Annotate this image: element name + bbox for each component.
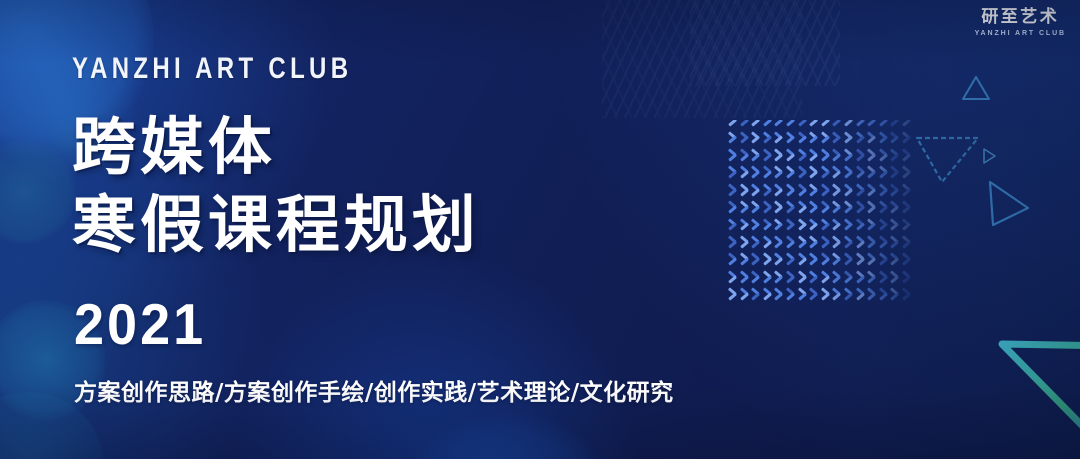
chevron-arrow-icon xyxy=(774,277,786,294)
chevron-arrow-icon xyxy=(879,155,891,172)
chevron-arrow-icon xyxy=(867,190,879,207)
triangle-outline-mid-icon xyxy=(914,132,982,188)
chevron-arrow-icon xyxy=(798,137,810,154)
chevron-arrow-icon xyxy=(902,259,912,276)
chevron-arrow-icon xyxy=(844,190,856,207)
chevron-arrow-icon xyxy=(902,277,912,294)
chevron-arrow-icon xyxy=(821,172,833,189)
chevron-arrow-icon xyxy=(856,137,868,154)
chevron-arrow-icon xyxy=(879,172,891,189)
chevron-arrow-icon xyxy=(856,172,868,189)
chevron-arrow-icon xyxy=(867,137,879,154)
bokeh-circle-mid-left xyxy=(0,140,76,244)
content-column: YANZHI ART CLUB 跨媒体 寒假课程规划 2021 方案创作思路/方… xyxy=(72,0,772,459)
page-title: 跨媒体 寒假课程规划 xyxy=(72,108,712,264)
brand-name-cn: 研至艺术 xyxy=(975,8,1066,27)
chevron-arrow-icon xyxy=(809,172,821,189)
chevron-arrow-icon xyxy=(902,224,912,241)
chevron-arrow-icon xyxy=(809,259,821,276)
chevron-arrow-icon xyxy=(821,120,833,137)
chevron-arrow-icon xyxy=(809,242,821,259)
chevron-arrow-icon xyxy=(890,259,902,276)
chevron-arrow-icon xyxy=(844,172,856,189)
chevron-arrow-icon xyxy=(832,172,844,189)
chevron-arrow-icon xyxy=(774,294,786,302)
chevron-arrow-icon xyxy=(856,259,868,276)
chevron-arrow-icon xyxy=(902,207,912,224)
chevron-arrow-icon xyxy=(902,137,912,154)
chevron-arrow-icon xyxy=(821,155,833,172)
chevron-arrow-icon xyxy=(786,294,798,302)
chevron-arrow-icon xyxy=(786,137,798,154)
chevron-arrow-icon xyxy=(786,190,798,207)
year-label: 2021 xyxy=(74,294,206,355)
chevron-arrow-icon xyxy=(774,259,786,276)
triangle-outline-low-icon xyxy=(983,178,1033,230)
chevron-arrow-icon xyxy=(798,277,810,294)
chevron-arrow-icon xyxy=(786,207,798,224)
chevron-arrow-icon xyxy=(844,224,856,241)
chevron-arrow-icon xyxy=(832,190,844,207)
chevron-arrow-icon xyxy=(867,172,879,189)
chevron-arrow-icon xyxy=(809,224,821,241)
chevron-arrow-icon xyxy=(798,224,810,241)
chevron-arrow-icon xyxy=(844,259,856,276)
chevron-arrow-icon xyxy=(809,190,821,207)
chevron-arrow-icon xyxy=(902,172,912,189)
chevron-arrow-icon xyxy=(867,155,879,172)
chevron-arrow-icon xyxy=(890,277,902,294)
chevron-arrow-icon xyxy=(786,155,798,172)
chevron-arrow-icon xyxy=(867,242,879,259)
subtitle-courses: 方案创作思路/方案创作手绘/创作实践/艺术理论/文化研究 xyxy=(74,378,674,408)
chevron-arrow-icon xyxy=(890,242,902,259)
chevron-arrow-icon xyxy=(844,155,856,172)
chevron-arrow-icon xyxy=(821,190,833,207)
chevron-arrow-icon xyxy=(879,242,891,259)
chevron-arrow-icon xyxy=(821,259,833,276)
chevron-arrow-icon xyxy=(832,224,844,241)
chevron-arrow-icon xyxy=(902,120,912,137)
chevron-arrow-icon xyxy=(798,259,810,276)
chevron-arrow-icon xyxy=(798,155,810,172)
chevron-arrow-icon xyxy=(774,224,786,241)
chevron-arrow-icon xyxy=(856,224,868,241)
brand-name-en: YANZHI ART CLUB xyxy=(975,29,1066,38)
chevron-arrow-icon xyxy=(798,207,810,224)
chevron-arrow-icon xyxy=(832,277,844,294)
chevron-arrow-icon xyxy=(879,294,891,302)
triangle-large-corner-icon xyxy=(996,330,1080,459)
chevron-arrow-icon xyxy=(821,224,833,241)
chevron-arrow-icon xyxy=(832,137,844,154)
chevron-arrow-icon xyxy=(890,190,902,207)
chevron-arrow-icon xyxy=(809,294,821,302)
chevron-arrow-icon xyxy=(902,242,912,259)
chevron-arrow-icon xyxy=(879,137,891,154)
chevron-arrow-icon xyxy=(844,207,856,224)
chevron-arrow-icon xyxy=(832,259,844,276)
chevron-arrow-icon xyxy=(798,294,810,302)
chevron-arrow-icon xyxy=(844,242,856,259)
chevron-arrow-icon xyxy=(774,190,786,207)
chevron-arrow-icon xyxy=(832,294,844,302)
chevron-arrow-icon xyxy=(856,277,868,294)
chevron-arrow-icon xyxy=(879,190,891,207)
eyebrow-label: YANZHI ART CLUB xyxy=(72,52,352,86)
chevron-arrow-icon xyxy=(786,242,798,259)
chevron-arrow-icon xyxy=(890,172,902,189)
chevron-arrow-icon xyxy=(821,242,833,259)
chevron-arrow-icon xyxy=(821,137,833,154)
chevron-arrow-icon xyxy=(902,155,912,172)
chevron-arrow-icon xyxy=(844,120,856,137)
chevron-arrow-icon xyxy=(786,277,798,294)
chevron-arrow-icon xyxy=(821,277,833,294)
chevron-arrow-icon xyxy=(902,294,912,302)
chevron-arrow-icon xyxy=(867,294,879,302)
chevron-arrow-icon xyxy=(879,259,891,276)
banner-root: YANZHI ART CLUB 跨媒体 寒假课程规划 2021 方案创作思路/方… xyxy=(0,0,1080,459)
chevron-arrow-icon xyxy=(774,172,786,189)
chevron-arrow-icon xyxy=(786,172,798,189)
chevron-arrow-icon xyxy=(844,137,856,154)
title-line-2: 寒假课程规划 xyxy=(72,186,731,264)
chevron-arrow-icon xyxy=(867,224,879,241)
chevron-arrow-icon xyxy=(774,137,786,154)
chevron-arrow-icon xyxy=(809,277,821,294)
chevron-arrow-icon xyxy=(798,172,810,189)
title-line-1: 跨媒体 xyxy=(72,108,731,186)
chevron-arrow-icon xyxy=(786,224,798,241)
chevron-arrow-icon xyxy=(879,224,891,241)
chevron-arrow-icon xyxy=(902,190,912,207)
chevron-arrow-icon xyxy=(890,224,902,241)
chevron-arrow-icon xyxy=(867,277,879,294)
chevron-arrow-icon xyxy=(798,190,810,207)
chevron-arrow-icon xyxy=(844,277,856,294)
chevron-arrow-icon xyxy=(821,207,833,224)
chevron-arrow-icon xyxy=(867,259,879,276)
chevron-arrow-icon xyxy=(786,259,798,276)
triangle-tiny-mid-icon xyxy=(979,146,999,166)
chevron-arrow-icon xyxy=(809,155,821,172)
chevron-arrow-icon xyxy=(856,294,868,302)
chevron-arrow-icon xyxy=(856,207,868,224)
chevron-arrow-icon xyxy=(821,294,833,302)
brand-logo[interactable]: 研至艺术 YANZHI ART CLUB xyxy=(975,8,1066,38)
chevron-arrow-icon xyxy=(856,242,868,259)
chevron-arrow-icon xyxy=(798,242,810,259)
chevron-arrow-icon xyxy=(879,207,891,224)
chevron-arrow-icon xyxy=(856,120,868,137)
chevron-arrow-icon xyxy=(856,190,868,207)
chevron-arrow-icon xyxy=(798,120,810,137)
triangle-small-top-icon xyxy=(960,74,992,102)
chevron-arrow-icon xyxy=(879,277,891,294)
chevron-arrow-icon xyxy=(856,155,868,172)
chevron-arrow-icon xyxy=(879,120,891,137)
chevron-arrow-icon xyxy=(890,137,902,154)
chevron-arrow-icon xyxy=(844,294,856,302)
chevron-arrow-icon xyxy=(890,294,902,302)
chevron-arrow-icon xyxy=(809,137,821,154)
